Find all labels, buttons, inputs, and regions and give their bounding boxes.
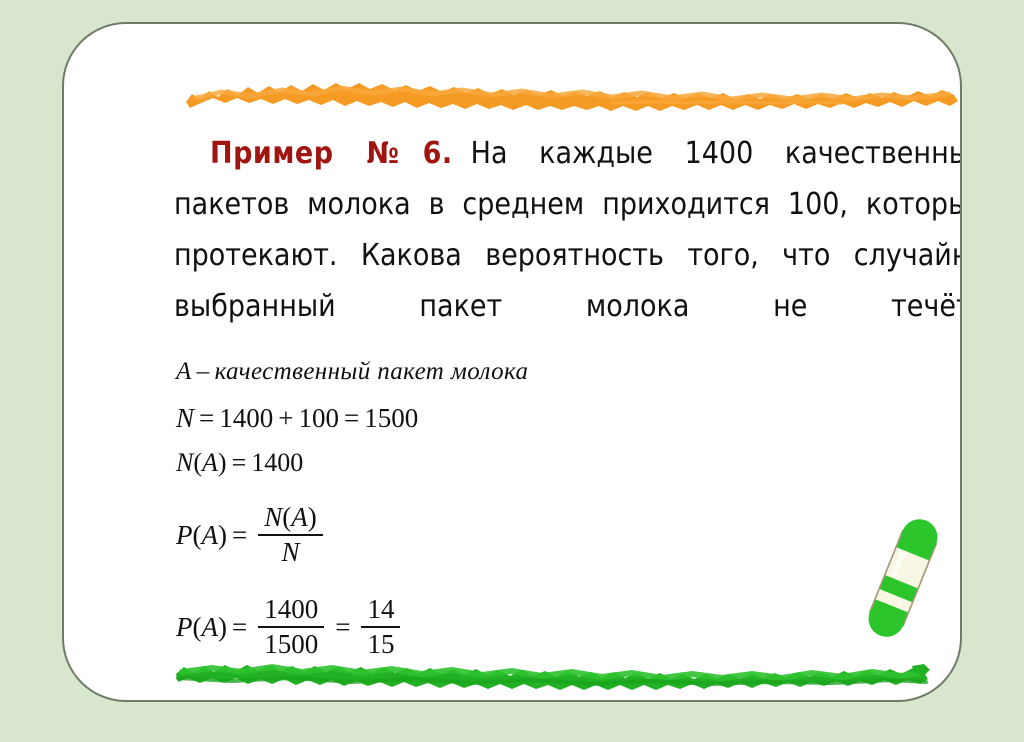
result-numerator-1: 1400 xyxy=(258,595,324,626)
formula-numerator-symbol: N xyxy=(264,502,282,532)
problem-statement: Пример №6.На каждые 1400 качественных па… xyxy=(174,128,962,383)
formula-paren-close: ) xyxy=(218,520,227,551)
formula-numerator-paren-close: ) xyxy=(308,502,317,532)
math-line-favorable-outcomes: N ( A ) = 1400 xyxy=(176,442,528,484)
result-denominator-2: 15 xyxy=(361,628,400,659)
formula-fraction: N(A) N xyxy=(258,503,323,567)
formula-denominator: N xyxy=(275,536,305,567)
favorable-equals: = xyxy=(232,448,247,478)
total-equals: = xyxy=(199,403,214,434)
result-equals-2: = xyxy=(335,612,350,643)
formula-paren-open: ( xyxy=(193,520,202,551)
example-label: Пример №6. xyxy=(210,136,453,171)
favorable-paren-close: ) xyxy=(218,448,227,478)
favorable-paren-open: ( xyxy=(193,448,202,478)
total-plus: + xyxy=(278,403,293,434)
result-symbol: P xyxy=(176,612,193,643)
formula-equals: = xyxy=(232,520,247,551)
favorable-value: 1400 xyxy=(251,448,303,478)
result-fraction-1: 1400 1500 xyxy=(258,595,324,659)
favorable-arg: A xyxy=(202,448,218,478)
slide-canvas: Пример №6.На каждые 1400 качественных па… xyxy=(0,0,1024,742)
math-line-total-outcomes: N = 1400 + 100 = 1500 xyxy=(176,396,528,440)
result-paren-close: ) xyxy=(218,612,227,643)
result-paren-open: ( xyxy=(193,612,202,643)
total-first-term: 1400 xyxy=(219,403,273,434)
result-numerator-2: 14 xyxy=(361,595,400,626)
formula-numerator-paren-open: ( xyxy=(282,502,291,532)
result-fraction-2: 14 15 xyxy=(361,595,400,659)
definition-dash: – xyxy=(197,358,210,386)
formula-numerator: N(A) xyxy=(258,503,323,534)
math-line-probability-result: P ( A ) = 1400 1500 = 14 15 xyxy=(176,584,528,670)
content-card: Пример №6.На каждые 1400 качественных па… xyxy=(62,22,962,702)
event-symbol: A xyxy=(176,358,192,386)
formula-numerator-arg: A xyxy=(291,502,308,532)
favorable-symbol: N xyxy=(176,448,193,478)
formula-symbol: P xyxy=(176,520,193,551)
result-denominator-1: 1500 xyxy=(258,628,324,659)
orange-brush-stroke xyxy=(182,72,962,114)
math-line-probability-formula: P ( A ) = N(A) N xyxy=(176,492,528,578)
math-line-event-definition: A – качественный пакет молока xyxy=(176,352,528,392)
total-result: 1500 xyxy=(364,403,418,434)
result-equals: = xyxy=(232,612,247,643)
formula-arg: A xyxy=(202,520,219,551)
result-arg: A xyxy=(202,612,219,643)
definition-text: качественный пакет молока xyxy=(215,358,529,386)
total-second-term: 100 xyxy=(298,403,339,434)
problem-paragraph: Пример №6.На каждые 1400 качественных па… xyxy=(174,128,962,383)
solution-math-block: A – качественный пакет молока N = 1400 +… xyxy=(176,352,528,670)
total-equals-2: = xyxy=(344,403,359,434)
green-marker-icon xyxy=(855,504,952,652)
total-symbol: N xyxy=(176,403,194,434)
